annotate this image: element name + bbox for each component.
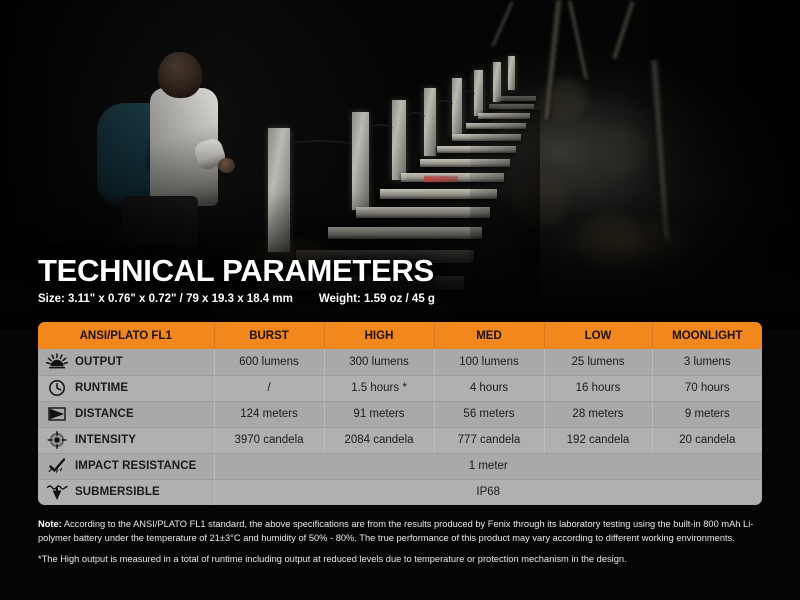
table-body: OUTPUT 600 lumens 300 lumens 100 lumens … [38,349,762,505]
table-row: DISTANCE 124 meters 91 meters 56 meters … [38,401,762,427]
table-row: IMPACT RESISTANCE 1 meter [38,453,762,479]
cell-runtime-med: 4 hours [434,375,544,401]
rope-swag [436,100,453,110]
water-drop-icon [46,483,68,501]
stone-post [508,56,515,90]
cell-distance-low: 28 meters [544,401,652,427]
column-header-standard: ANSI/PLATO FL1 [38,322,214,349]
column-header-high: HIGH [324,322,434,349]
stair-tread [498,96,536,101]
cell-intensity-med: 777 candela [434,427,544,453]
table-row: RUNTIME / 1.5 hours * 4 hours 16 hours 7… [38,375,762,401]
size-text: Size: 3.11" x 0.76" x 0.72" / 79 x 19.3 … [38,293,293,305]
spec-table: ANSI/PLATO FL1 BURST HIGH MED LOW MOONLI… [38,322,762,505]
cell-output-moonlight: 3 lumens [652,349,762,375]
table-header: ANSI/PLATO FL1 BURST HIGH MED LOW MOONLI… [38,322,762,349]
stone-post [392,100,406,180]
cell-submersible-value: IP68 [214,479,762,505]
row-label-text: DISTANCE [75,408,134,420]
cell-runtime-moonlight: 70 hours [652,375,762,401]
cell-output-low: 25 lumens [544,349,652,375]
cell-distance-burst: 124 meters [214,401,324,427]
beam-icon [46,405,68,423]
column-header-med: MED [434,322,544,349]
row-label-submersible: SUBMERSIBLE [38,479,214,505]
row-label-runtime: RUNTIME [38,375,214,401]
cell-runtime-high: 1.5 hours * [324,375,434,401]
cell-intensity-high: 2084 candela [324,427,434,453]
clock-icon [46,379,68,397]
crosshair-icon [46,431,68,449]
cell-output-burst: 600 lumens [214,349,324,375]
row-label-output: OUTPUT [38,349,214,375]
footnotes: Note: According to the ANSI/PLATO FL1 st… [38,518,766,567]
table-row: OUTPUT 600 lumens 300 lumens 100 lumens … [38,349,762,375]
table-row: SUBMERSIBLE IP68 [38,479,762,505]
stone-post [452,78,462,134]
row-label-text: IMPACT RESISTANCE [75,460,196,472]
note-main: Note: According to the ANSI/PLATO FL1 st… [38,518,766,545]
cell-impact-resistance-value: 1 meter [214,453,762,479]
cell-intensity-low: 192 candela [544,427,652,453]
weight-text: Weight: 1.59 oz / 45 g [319,293,435,305]
row-label-impact-resistance: IMPACT RESISTANCE [38,453,214,479]
rope-swag [462,90,475,100]
rope-swag [369,124,393,134]
row-label-text: RUNTIME [75,382,128,394]
sunburst-icon [46,353,68,371]
column-header-low: LOW [544,322,652,349]
cell-distance-moonlight: 9 meters [652,401,762,427]
note-label: Note: [38,519,62,529]
cell-distance-med: 56 meters [434,401,544,427]
note-body: According to the ANSI/PLATO FL1 standard… [38,519,753,543]
column-header-moonlight: MOONLIGHT [652,322,762,349]
size-weight-line: Size: 3.11" x 0.76" x 0.72" / 79 x 19.3 … [38,293,435,305]
stair-paint-mark [424,176,458,182]
page-title: TECHNICAL PARAMETERS [38,253,434,289]
stair-tread [489,104,534,109]
stone-post [424,88,436,156]
row-label-intensity: INTENSITY [38,427,214,453]
cell-output-med: 100 lumens [434,349,544,375]
table-header-row: ANSI/PLATO FL1 BURST HIGH MED LOW MOONLI… [38,322,762,349]
column-header-burst: BURST [214,322,324,349]
cell-output-high: 300 lumens [324,349,434,375]
cell-runtime-low: 16 hours [544,375,652,401]
cell-runtime-burst: / [214,375,324,401]
rope-swag [406,112,425,122]
cell-intensity-burst: 3970 candela [214,427,324,453]
row-label-text: INTENSITY [75,434,136,446]
technical-parameters-table: ANSI/PLATO FL1 BURST HIGH MED LOW MOONLI… [38,322,762,505]
note-asterisk: *The High output is measured in a total … [38,553,766,567]
cell-intensity-moonlight: 20 candela [652,427,762,453]
row-label-text: OUTPUT [75,356,123,368]
row-label-text: SUBMERSIBLE [75,486,160,498]
rope-swag [290,140,352,150]
product-spec-page: TECHNICAL PARAMETERS Size: 3.11" x 0.76"… [0,0,800,600]
table-row: INTENSITY 3970 candela 2084 candela 777 … [38,427,762,453]
impact-check-icon [46,457,68,475]
cell-distance-high: 91 meters [324,401,434,427]
row-label-distance: DISTANCE [38,401,214,427]
